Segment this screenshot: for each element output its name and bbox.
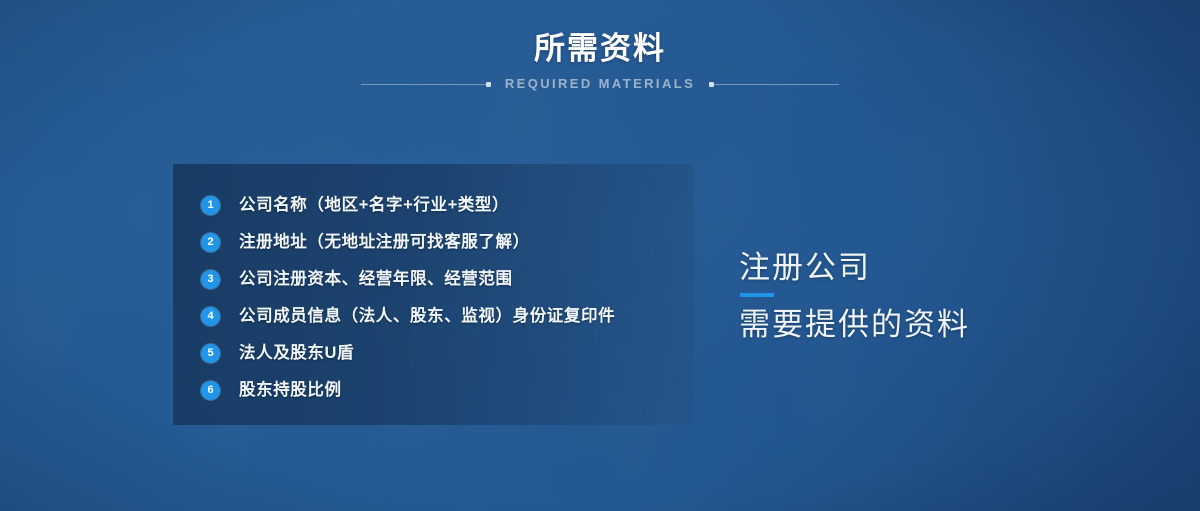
header-title: 所需资料 [0,30,1200,68]
requirement-item: 1公司名称（地区+名字+行业+类型） [201,187,682,223]
requirement-text: 注册地址（无地址注册可找客服了解） [239,230,530,254]
requirement-item: 4公司成员信息（法人、股东、监视）身份证复印件 [201,298,682,334]
requirement-number-badge: 2 [201,233,220,252]
requirement-text: 股东持股比例 [239,378,342,402]
requirement-number-badge: 3 [201,270,220,289]
decorative-line-left [361,84,491,85]
headline-accent-rule [740,293,774,297]
banner-header: 所需资料 REQUIRED MATERIALS [0,30,1200,94]
requirement-number-badge: 4 [201,307,220,326]
requirement-text: 公司成员信息（法人、股东、监视）身份证复印件 [239,304,615,328]
requirement-number-badge: 1 [201,196,220,215]
header-subtitle: REQUIRED MATERIALS [505,74,695,94]
requirement-text: 公司名称（地区+名字+行业+类型） [239,193,509,217]
requirement-text: 公司注册资本、经营年限、经营范围 [239,267,513,291]
requirements-list: 1公司名称（地区+名字+行业+类型）2注册地址（无地址注册可找客服了解）3公司注… [201,187,682,409]
headline-line-2: 需要提供的资料 [739,304,1159,346]
requirement-number-badge: 6 [201,381,220,400]
requirement-item: 3公司注册资本、经营年限、经营范围 [201,261,682,297]
requirement-item: 2注册地址（无地址注册可找客服了解） [201,224,682,260]
decorative-dot-right [709,82,714,87]
requirement-number-badge: 5 [201,344,220,363]
headline-block: 注册公司 需要提供的资料 [739,247,1159,346]
requirement-item: 6股东持股比例 [201,372,682,408]
header-subtitle-row: REQUIRED MATERIALS [0,74,1200,94]
headline-line-1: 注册公司 [739,247,1159,289]
decorative-line-right [709,84,839,85]
promo-banner: 所需资料 REQUIRED MATERIALS 1公司名称（地区+名字+行业+类… [0,0,1200,511]
decorative-dot-left [486,82,491,87]
requirements-panel: 1公司名称（地区+名字+行业+类型）2注册地址（无地址注册可找客服了解）3公司注… [173,164,694,425]
requirement-item: 5法人及股东U盾 [201,335,682,371]
requirement-text: 法人及股东U盾 [239,341,354,365]
